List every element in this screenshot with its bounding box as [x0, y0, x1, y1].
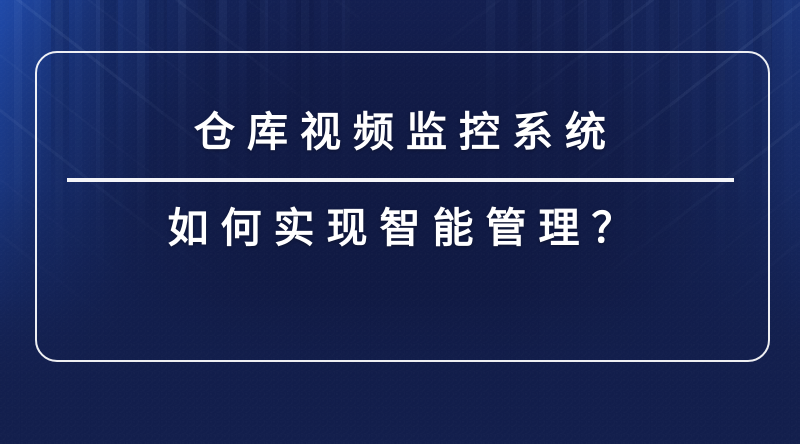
banner-subline: 如何实现智能管理？ — [0, 208, 800, 249]
banner-headline: 仓库视频监控系统 — [0, 112, 800, 153]
banner-canvas: 仓库视频监控系统 如何实现智能管理？ — [0, 0, 800, 444]
banner-content: 仓库视频监控系统 如何实现智能管理？ — [0, 112, 800, 249]
headline-divider — [67, 178, 734, 182]
